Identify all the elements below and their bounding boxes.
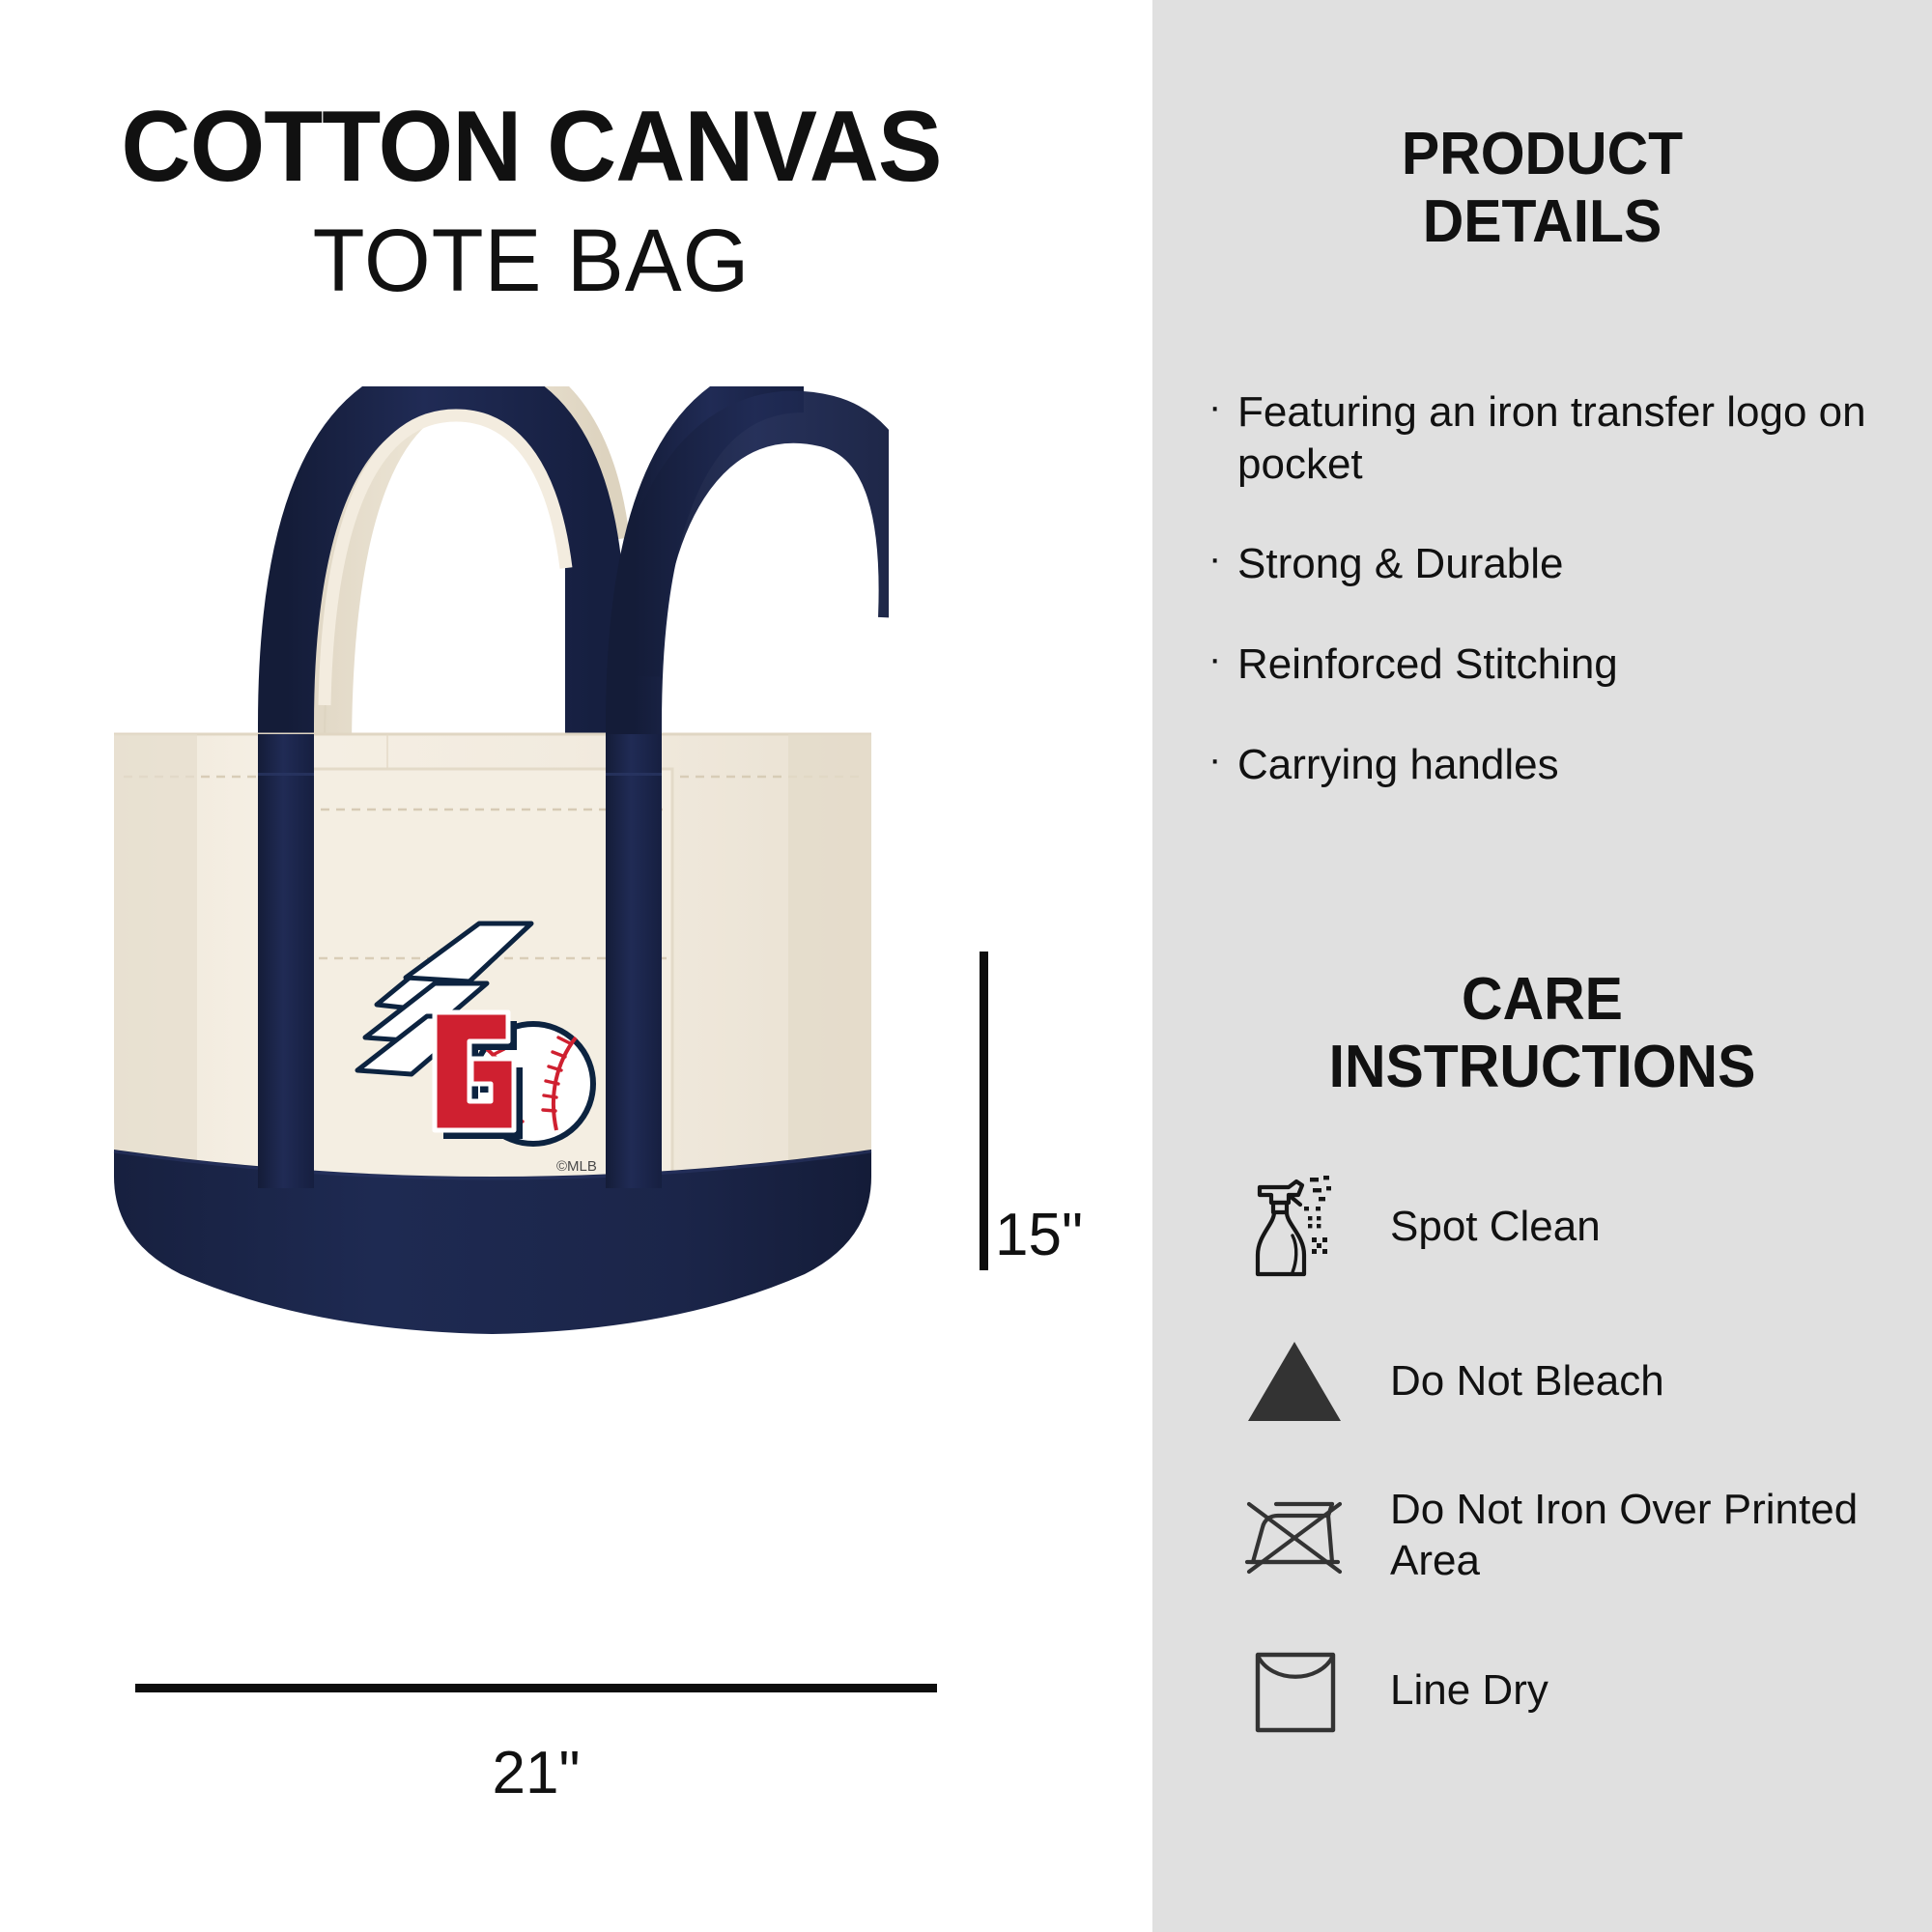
handle-rear-right <box>634 417 889 676</box>
height-dimension-label: 15" <box>995 1201 1083 1269</box>
list-item-label: Reinforced Stitching <box>1237 639 1618 691</box>
bullet-marker-icon: · <box>1208 538 1237 580</box>
care-row-line-dry: Line Dry <box>1212 1618 1927 1763</box>
right-panel: PRODUCT DETAILS · Featuring an iron tran… <box>1152 0 1932 1932</box>
product-details-heading-line1: PRODUCT <box>1172 121 1913 188</box>
page-subtitle: TOTE BAG <box>21 211 1041 313</box>
filled-triangle-do-not-bleach-icon <box>1212 1314 1377 1449</box>
care-label-do-not-iron: Do Not Iron Over Printed Area <box>1377 1485 1927 1587</box>
care-row-do-not-iron: Do Not Iron Over Printed Area <box>1212 1463 1927 1608</box>
care-instructions-heading-line2: INSTRUCTIONS <box>1172 1034 1913 1101</box>
list-item: · Reinforced Stitching <box>1208 639 1904 691</box>
title-block: COTTON CANVAS TOTE BAG <box>0 97 1063 313</box>
crossed-iron-icon <box>1212 1468 1377 1604</box>
width-dimension-line <box>135 1684 937 1692</box>
infographic-page: COTTON CANVAS TOTE BAG <box>0 0 1932 1932</box>
care-label-do-not-bleach: Do Not Bleach <box>1377 1356 1664 1407</box>
tote-bag-illustration: ©MLB <box>97 386 889 1546</box>
product-details-heading-line2: DETAILS <box>1172 188 1913 256</box>
left-panel: COTTON CANVAS TOTE BAG <box>0 0 1152 1932</box>
mlb-copyright: ©MLB <box>556 1158 597 1175</box>
care-row-spot-clean: Spot Clean <box>1212 1154 1927 1299</box>
care-instructions-list: Spot Clean Do Not Bleach <box>1212 1154 1927 1773</box>
list-item-label: Carrying handles <box>1237 739 1559 791</box>
product-details-list: · Featuring an iron transfer logo on poc… <box>1208 386 1904 838</box>
bag-navy-base <box>114 1150 871 1334</box>
tote-bag-image: ©MLB <box>97 386 889 1546</box>
page-title: COTTON CANVAS <box>21 97 1041 197</box>
list-item: · Strong & Durable <box>1208 538 1904 590</box>
care-instructions-heading: CARE INSTRUCTIONS <box>1172 966 1913 1101</box>
width-dimension-label: 21" <box>0 1739 1072 1807</box>
care-label-spot-clean: Spot Clean <box>1377 1202 1601 1253</box>
list-item: · Featuring an iron transfer logo on poc… <box>1208 386 1904 490</box>
spray-bottle-icon <box>1212 1159 1377 1294</box>
handle-left-tail <box>258 734 314 1188</box>
bullet-marker-icon: · <box>1208 386 1237 428</box>
line-dry-icon <box>1212 1623 1377 1758</box>
care-label-line-dry: Line Dry <box>1377 1665 1548 1717</box>
care-instructions-heading-line1: CARE <box>1172 966 1913 1034</box>
bag-body: ©MLB <box>114 734 875 1352</box>
list-item-label: Featuring an iron transfer logo on pocke… <box>1237 386 1904 490</box>
product-details-heading: PRODUCT DETAILS <box>1172 121 1913 256</box>
handle-right-tail <box>606 734 662 1188</box>
list-item: · Carrying handles <box>1208 739 1904 791</box>
height-dimension-line <box>980 952 988 1270</box>
list-item-label: Strong & Durable <box>1237 538 1564 590</box>
care-row-do-not-bleach: Do Not Bleach <box>1212 1309 1927 1454</box>
bullet-marker-icon: · <box>1208 739 1237 781</box>
bullet-marker-icon: · <box>1208 639 1237 680</box>
